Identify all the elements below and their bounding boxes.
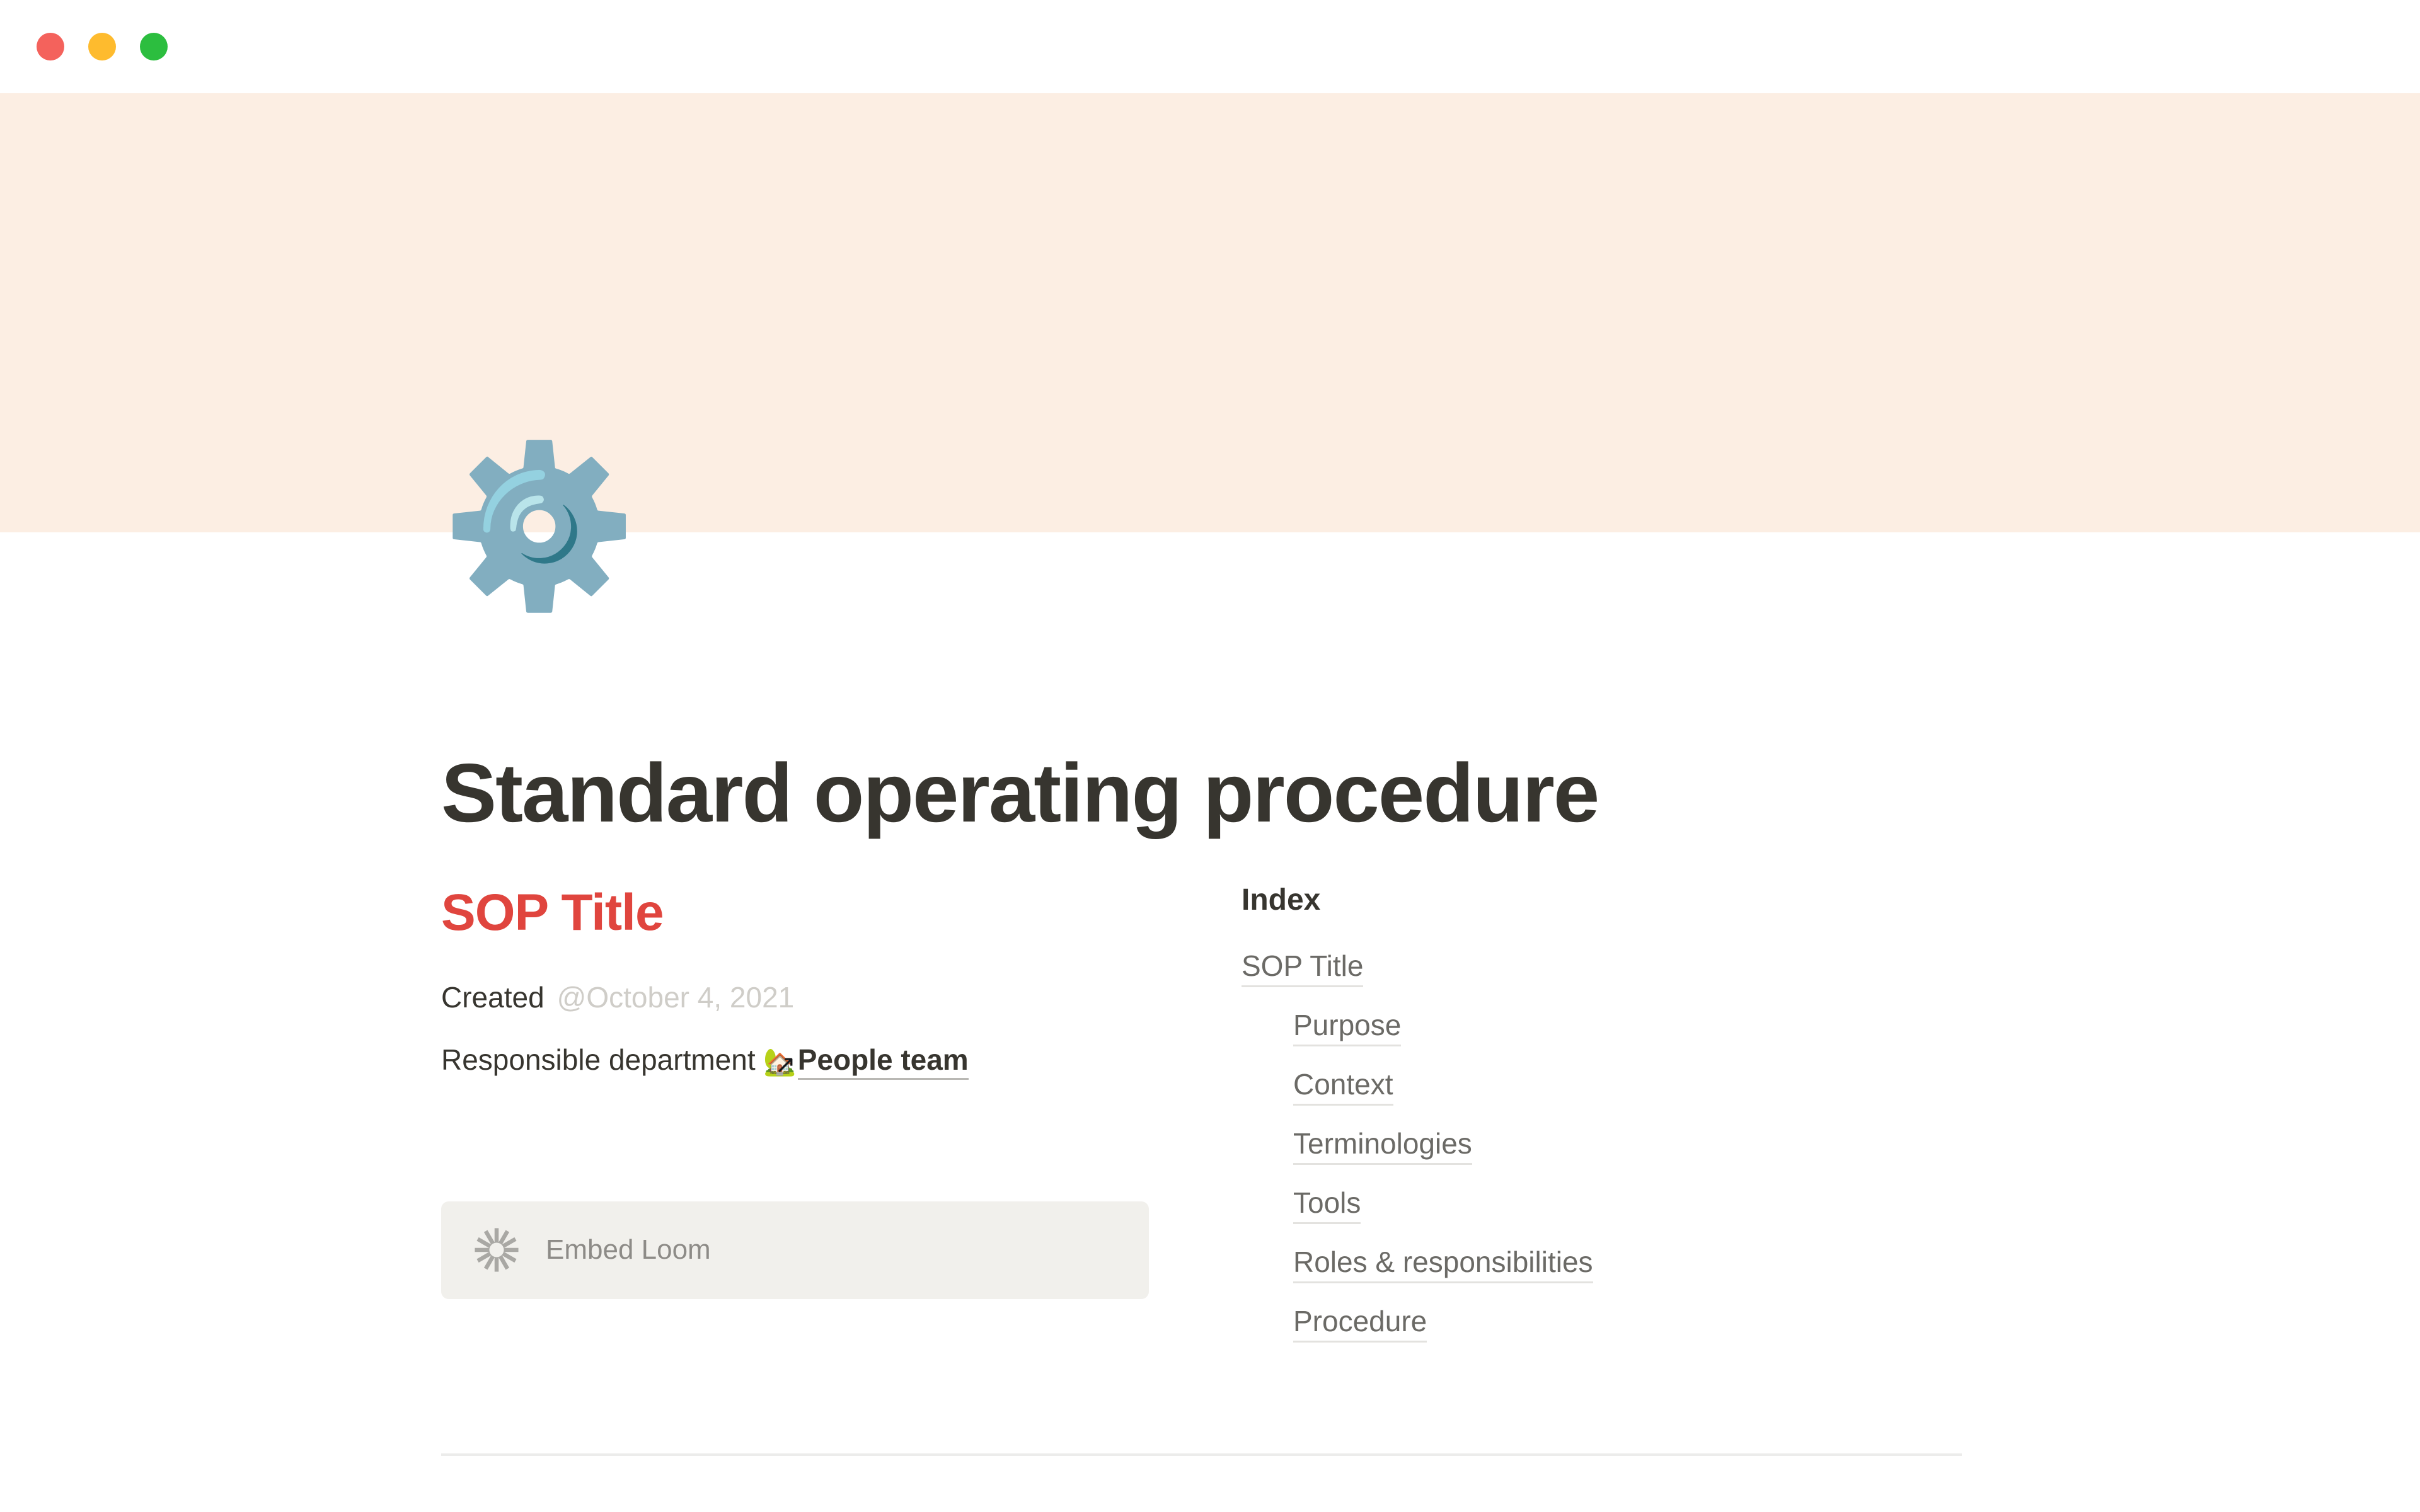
sop-title-heading[interactable]: SOP Title [441, 882, 1242, 944]
right-column: Index SOP Title Purpose Context Terminol… [1242, 882, 1966, 1361]
index-item-context: Context [1242, 1065, 1966, 1104]
index-item-tools: Tools [1242, 1183, 1966, 1222]
index-link-purpose[interactable]: Purpose [1293, 1009, 1401, 1046]
created-row: Created@October 4, 2021 [441, 976, 1242, 1019]
index-link-tools[interactable]: Tools [1293, 1186, 1361, 1224]
index-item-roles-responsibilities: Roles & responsibilities [1242, 1242, 1966, 1281]
index-item-purpose: Purpose [1242, 1005, 1966, 1045]
gear-emoji-icon[interactable]: ⚙️ [441, 441, 611, 611]
index-link-sop-title[interactable]: SOP Title [1242, 949, 1363, 987]
created-label: Created [441, 981, 544, 1014]
index-item-sop-title: SOP Title [1242, 946, 1966, 985]
index-link-terminologies[interactable]: Terminologies [1293, 1127, 1472, 1165]
external-link-arrow-icon: ↗ [775, 1052, 796, 1077]
document-page: ⚙️ Standard operating procedure SOP Titl… [0, 0, 2420, 1512]
index-list: SOP Title Purpose Context Terminologies … [1242, 946, 1966, 1341]
responsible-department-row: Responsible department 🏡↗People team [441, 1039, 1242, 1082]
index-heading: Index [1242, 882, 1966, 919]
people-team-link[interactable]: People team [798, 1043, 969, 1080]
content-columns: SOP Title Created@October 4, 2021 Respon… [441, 882, 1966, 1361]
index-item-terminologies: Terminologies [1242, 1124, 1966, 1163]
embed-loom-label: Embed Loom [546, 1236, 711, 1264]
index-item-procedure: Procedure [1242, 1302, 1966, 1341]
created-date-value[interactable]: @October 4, 2021 [557, 981, 795, 1014]
index-link-context[interactable]: Context [1293, 1068, 1393, 1106]
section-divider [441, 1453, 1962, 1456]
house-with-garden-icon: 🏡↗ [763, 1043, 796, 1082]
left-column: SOP Title Created@October 4, 2021 Respon… [441, 882, 1242, 1299]
index-link-procedure[interactable]: Procedure [1293, 1305, 1427, 1343]
loom-icon [474, 1227, 519, 1273]
index-link-roles-responsibilities[interactable]: Roles & responsibilities [1293, 1246, 1593, 1283]
responsible-department-label: Responsible department [441, 1043, 756, 1076]
embed-loom-block[interactable]: Embed Loom [441, 1201, 1149, 1299]
page-title[interactable]: Standard operating procedure [441, 745, 1598, 841]
